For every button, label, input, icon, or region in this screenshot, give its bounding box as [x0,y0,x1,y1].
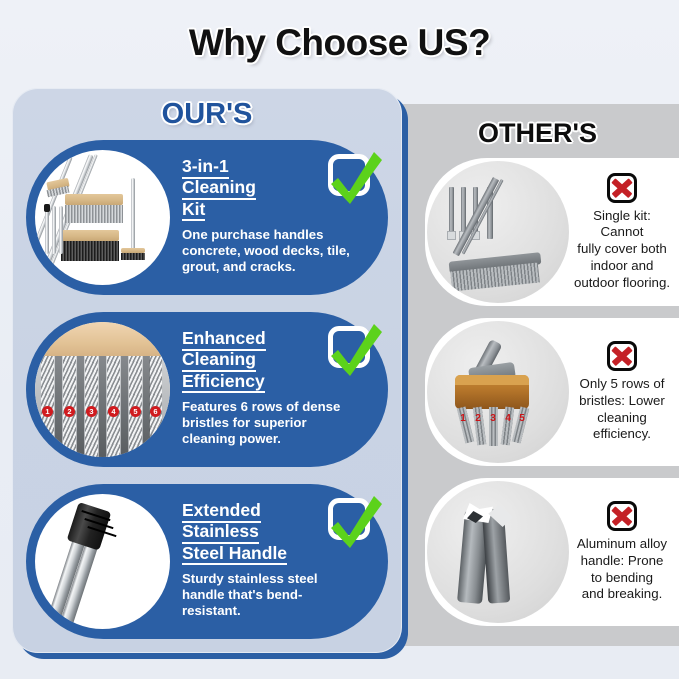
ours-panel: OUR'S 3-in-1 Cle [12,88,402,653]
row-label-2: 2 [473,413,483,425]
row-label-2: 2 [64,406,75,417]
others-heading: OTHER'S [396,118,679,149]
round-wooden-brush-photo: 1 2 3 4 5 [427,321,569,463]
other-card-1-caption: Single kit: Cannot fully cover both indo… [571,208,673,292]
x-mark-icon [607,501,637,531]
our-card-2-body: Enhanced Cleaning Efficiency Features 6 … [170,312,388,467]
row-label-3: 3 [86,406,97,417]
x-mark-icon [607,173,637,203]
our-card-1-body: 3-in-1 Cleaning Kit One purchase handles… [170,140,388,295]
other-card-2-text: Only 5 rows of bristles: Lower cleaning … [569,341,679,443]
stainless-steel-handle-photo [35,494,170,629]
six-rows-bristles-closeup-photo: 1 2 3 4 5 6 [35,322,170,457]
other-card-1: Single kit: Cannot fully cover both indo… [425,158,679,306]
x-mark-icon [607,341,637,371]
other-card-3-caption: Aluminum alloy handle: Prone to bending … [571,536,673,603]
other-card-1-text: Single kit: Cannot fully cover both indo… [569,173,679,292]
row-label-4: 4 [503,413,513,425]
check-mark-icon [328,326,370,368]
row-label-4: 4 [108,406,119,417]
bent-broken-aluminum-handle-photo [427,481,569,623]
our-card-2: 1 2 3 4 5 6 Enhanced Cleaning Efficiency… [26,312,388,467]
our-card-1: 3-in-1 Cleaning Kit One purchase handles… [26,140,388,295]
our-card-3-body: Extended Stainless Steel Handle Sturdy s… [170,484,388,639]
our-card-2-title: Enhanced Cleaning Efficiency [182,328,332,392]
check-mark-icon [328,154,370,196]
other-card-2-caption: Only 5 rows of bristles: Lower cleaning … [571,376,673,443]
infographic-page: Why Choose US? OTHER'S Single kit: Canno [0,0,679,679]
row-label-1: 1 [458,413,468,425]
other-card-3: Aluminum alloy handle: Prone to bending … [425,478,679,626]
our-card-2-description: Features 6 rows of dense bristles for su… [182,399,380,447]
row-label-1: 1 [42,406,53,417]
our-card-1-description: One purchase handles concrete, wood deck… [182,227,380,275]
other-card-2: 1 2 3 4 5 Only 5 rows of bristles: Lower… [425,318,679,466]
our-card-3-description: Sturdy stainless steel handle that's ben… [182,571,380,619]
three-piece-broom-set-photo [35,150,170,285]
row-label-5: 5 [130,406,141,417]
row-label-3: 3 [488,413,498,425]
our-card-1-title: 3-in-1 Cleaning Kit [182,156,332,220]
ours-heading: OUR'S [12,98,402,131]
row-label-6: 6 [150,406,161,417]
others-panel: OTHER'S Single kit: Cannot fully cover b… [396,104,679,646]
check-mark-icon [328,498,370,540]
other-card-3-text: Aluminum alloy handle: Prone to bending … [569,501,679,603]
row-label-5: 5 [517,413,527,425]
single-push-broom-photo [427,161,569,303]
our-card-3: Extended Stainless Steel Handle Sturdy s… [26,484,388,639]
page-title: Why Choose US? [0,22,679,64]
